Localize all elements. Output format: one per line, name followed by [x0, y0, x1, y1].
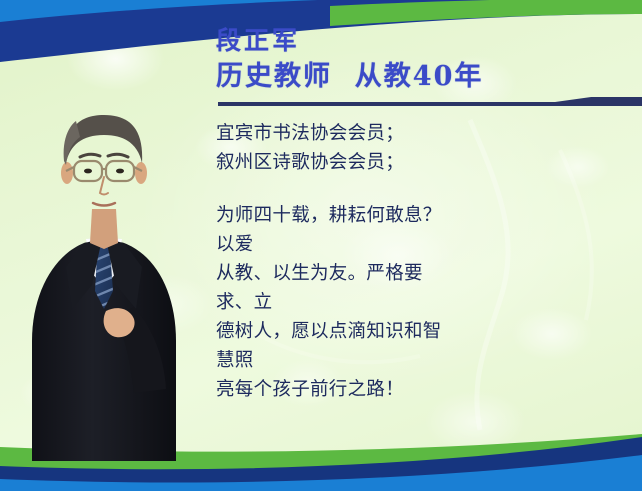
portrait-ear-right — [135, 162, 147, 184]
portrait-hair-side — [64, 121, 80, 165]
portrait-eye-right — [116, 169, 124, 174]
portrait-ear-left — [61, 162, 73, 184]
credits-text: 宜宾市书法协会会员； 叙州区诗歌协会会员； — [216, 119, 456, 177]
portrait-brow-right — [108, 154, 128, 157]
slide-canvas: 段正军 历史教师 从教40年 宜宾市书法协会会员； 叙州区诗歌协会会员； 为师四… — [0, 0, 642, 491]
motto-text: 为师四十载，耕耘何敢息？以爱 从教、以生为友。严格要求、立 德树人，愿以点滴知识… — [216, 201, 456, 404]
teacher-role: 历史教师 从教40年 — [216, 59, 616, 95]
portrait-neck — [90, 209, 118, 249]
title-divider — [216, 95, 616, 108]
portrait-mouth — [93, 203, 115, 206]
title-divider-rule — [218, 97, 642, 110]
teacher-portrait — [14, 41, 190, 461]
portrait-nose — [100, 177, 108, 195]
text-block: 段正军 历史教师 从教40年 宜宾市书法协会会员； 叙州区诗歌协会会员； 为师四… — [216, 24, 616, 404]
portrait-brow-left — [80, 154, 100, 157]
portrait-eye-left — [84, 169, 92, 174]
teacher-name: 段正军 — [216, 24, 616, 57]
